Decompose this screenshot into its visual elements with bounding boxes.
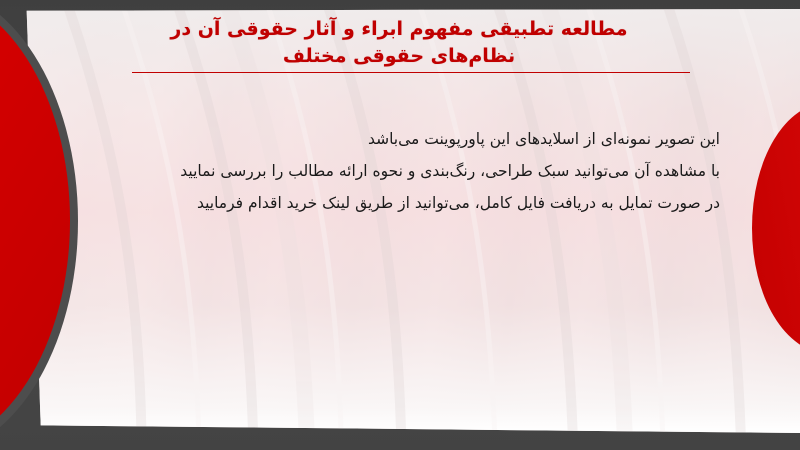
slide-title-block: مطالعه تطبیقی مفهوم ابراء و آثار حقوقی آ… <box>108 16 690 70</box>
body-line-2: با مشاهده آن می‌توانید سبک طراحی، رنگ‌بن… <box>120 156 720 188</box>
slide-title-line-2: نظام‌های حقوقی مختلف <box>108 43 690 70</box>
slide-title-line-1: مطالعه تطبیقی مفهوم ابراء و آثار حقوقی آ… <box>108 16 690 43</box>
slide-body-block: این تصویر نمونه‌ای از اسلایدهای این پاور… <box>120 124 720 220</box>
presentation-slide: مطالعه تطبیقی مفهوم ابراء و آثار حقوقی آ… <box>0 0 800 450</box>
body-line-3: در صورت تمایل به دریافت فایل کامل، می‌تو… <box>120 188 720 220</box>
body-line-1: این تصویر نمونه‌ای از اسلایدهای این پاور… <box>120 124 720 156</box>
title-divider-rule <box>132 72 690 73</box>
